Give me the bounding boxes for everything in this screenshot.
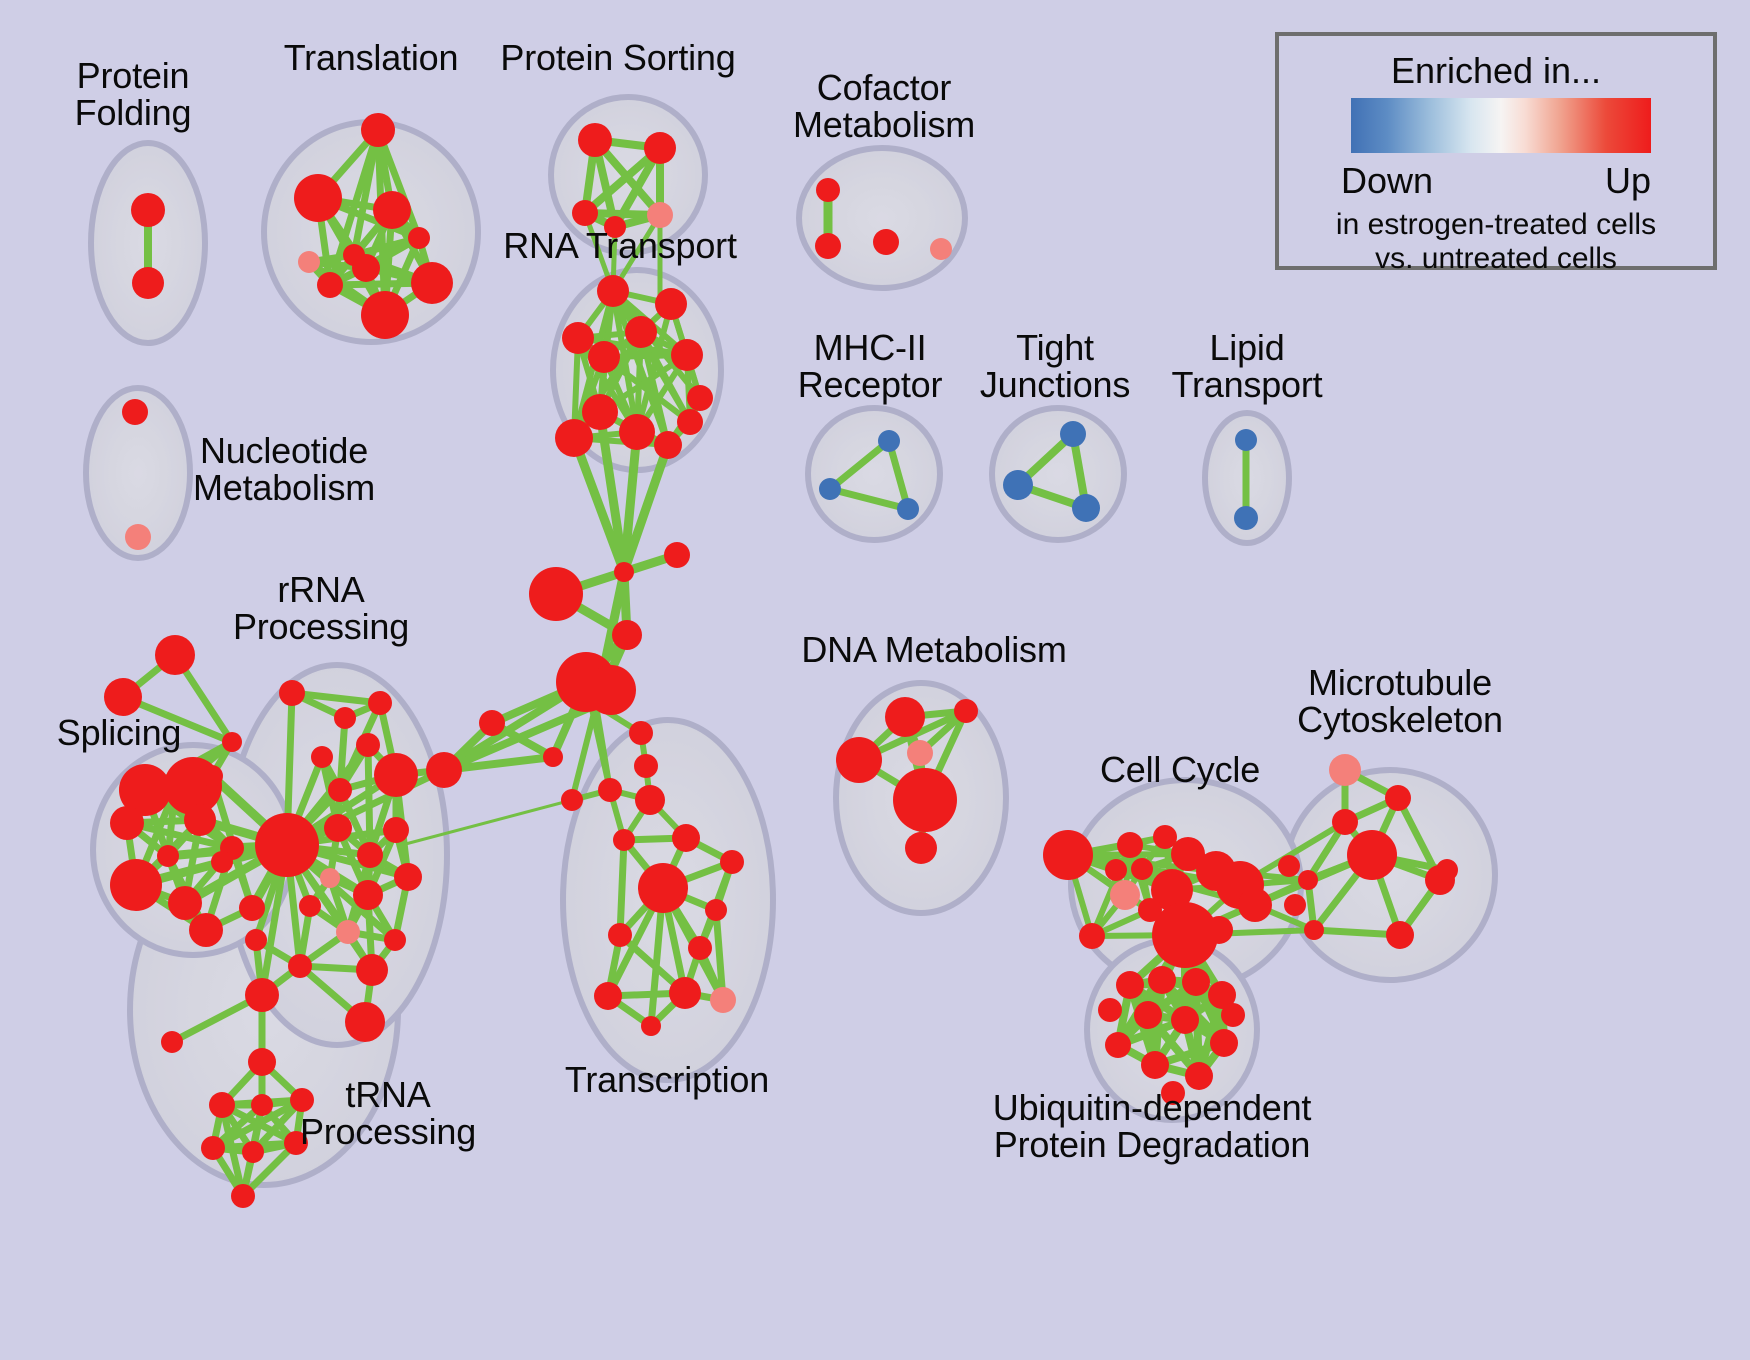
- node: [893, 768, 957, 832]
- legend-down-label: Down: [1341, 160, 1433, 202]
- node: [1141, 1051, 1169, 1079]
- node: [638, 863, 688, 913]
- node: [239, 895, 265, 921]
- node: [672, 824, 700, 852]
- node: [1116, 971, 1144, 999]
- node: [1079, 923, 1105, 949]
- node: [251, 1094, 273, 1116]
- node: [572, 200, 598, 226]
- node: [671, 339, 703, 371]
- node: [374, 753, 418, 797]
- node: [373, 191, 411, 229]
- node: [598, 778, 622, 802]
- node: [1284, 894, 1306, 916]
- node: [655, 288, 687, 320]
- node: [157, 845, 179, 867]
- node: [290, 1088, 314, 1112]
- node: [907, 740, 933, 766]
- node: [384, 929, 406, 951]
- node: [597, 275, 629, 307]
- node: [562, 322, 594, 354]
- node: [836, 737, 882, 783]
- node: [110, 859, 162, 911]
- node: [279, 680, 305, 706]
- node: [125, 524, 151, 550]
- node: [189, 913, 223, 947]
- node: [1332, 809, 1358, 835]
- node: [1043, 830, 1093, 880]
- node: [122, 399, 148, 425]
- node: [132, 267, 164, 299]
- node: [561, 789, 583, 811]
- node: [641, 1016, 661, 1036]
- node: [1148, 966, 1176, 994]
- node: [1105, 859, 1127, 881]
- node: [1182, 968, 1210, 996]
- legend-color-gradient-bar: [1351, 98, 1651, 153]
- node: [311, 746, 333, 768]
- node: [131, 193, 165, 227]
- node: [815, 233, 841, 259]
- node: [873, 229, 899, 255]
- node: [677, 409, 703, 435]
- node: [356, 954, 388, 986]
- node: [245, 929, 267, 951]
- node: [1238, 888, 1272, 922]
- node: [394, 863, 422, 891]
- legend-title: Enriched in...: [1279, 50, 1713, 92]
- node: [361, 113, 395, 147]
- node: [1060, 421, 1086, 447]
- node: [1221, 1003, 1245, 1027]
- node: [1235, 429, 1257, 451]
- node: [543, 747, 563, 767]
- node: [688, 936, 712, 960]
- node: [353, 880, 383, 910]
- node: [1110, 880, 1140, 910]
- node: [1278, 855, 1300, 877]
- node: [336, 920, 360, 944]
- node: [1171, 1006, 1199, 1034]
- node: [1210, 1029, 1238, 1057]
- node: [954, 699, 978, 723]
- node: [594, 982, 622, 1010]
- node: [1347, 830, 1397, 880]
- node: [608, 923, 632, 947]
- node: [479, 710, 505, 736]
- node: [1436, 859, 1458, 881]
- node: [619, 414, 655, 450]
- node: [248, 1048, 276, 1076]
- node: [299, 895, 321, 917]
- node: [245, 978, 279, 1012]
- node: [110, 806, 144, 840]
- node: [816, 178, 840, 202]
- node: [529, 567, 583, 621]
- node: [634, 754, 658, 778]
- node: [1298, 870, 1318, 890]
- node: [231, 1184, 255, 1208]
- node: [288, 954, 312, 978]
- node: [352, 254, 380, 282]
- node: [705, 899, 727, 921]
- node: [604, 216, 626, 238]
- legend-subtitle: in estrogen-treated cells vs. untreated …: [1279, 208, 1713, 275]
- node: [1105, 1032, 1131, 1058]
- node: [1386, 921, 1414, 949]
- node: [1131, 858, 1153, 880]
- node: [1072, 494, 1100, 522]
- node: [1117, 832, 1143, 858]
- node: [710, 987, 736, 1013]
- node: [209, 1092, 235, 1118]
- node: [1329, 754, 1361, 786]
- node: [408, 227, 430, 249]
- node: [1205, 916, 1233, 944]
- node: [361, 291, 409, 339]
- node: [411, 262, 453, 304]
- node: [625, 316, 657, 348]
- node: [201, 765, 223, 787]
- node: [328, 778, 352, 802]
- node: [1134, 1001, 1162, 1029]
- hull-mhc-ii-receptor: [808, 408, 940, 540]
- node: [383, 817, 409, 843]
- legend-up-label: Up: [1605, 160, 1651, 202]
- node: [720, 850, 744, 874]
- node: [211, 851, 233, 873]
- node: [1185, 1062, 1213, 1090]
- node: [588, 341, 620, 373]
- node: [317, 272, 343, 298]
- node: [586, 665, 636, 715]
- node: [654, 431, 682, 459]
- node: [222, 732, 242, 752]
- node: [168, 886, 202, 920]
- node: [155, 635, 195, 675]
- node: [345, 1002, 385, 1042]
- node: [1304, 920, 1324, 940]
- node: [878, 430, 900, 452]
- node: [1098, 998, 1122, 1022]
- node: [669, 977, 701, 1009]
- node: [426, 752, 462, 788]
- node: [687, 385, 713, 411]
- node: [578, 123, 612, 157]
- node: [905, 832, 937, 864]
- node: [242, 1141, 264, 1163]
- node: [614, 562, 634, 582]
- node: [334, 707, 356, 729]
- node: [1234, 506, 1258, 530]
- node: [613, 829, 635, 851]
- node: [104, 678, 142, 716]
- node: [294, 174, 342, 222]
- node: [897, 498, 919, 520]
- node: [184, 804, 216, 836]
- legend-box: Enriched in... Down Up in estrogen-treat…: [1275, 32, 1717, 270]
- node: [664, 542, 690, 568]
- node: [298, 251, 320, 273]
- node: [201, 1136, 225, 1160]
- node: [885, 697, 925, 737]
- node: [1003, 470, 1033, 500]
- node: [1161, 1081, 1185, 1105]
- node: [255, 813, 319, 877]
- enrichment-map-figure: Protein Folding Translation Protein Sort…: [0, 0, 1750, 1360]
- node: [930, 238, 952, 260]
- node: [635, 785, 665, 815]
- node: [819, 478, 841, 500]
- node: [644, 132, 676, 164]
- node: [161, 1031, 183, 1053]
- node: [1385, 785, 1411, 811]
- node: [612, 620, 642, 650]
- node: [356, 733, 380, 757]
- node: [284, 1131, 308, 1155]
- node: [357, 842, 383, 868]
- node: [647, 202, 673, 228]
- node: [582, 394, 618, 430]
- node: [368, 691, 392, 715]
- node: [629, 721, 653, 745]
- node: [324, 814, 352, 842]
- node: [320, 868, 340, 888]
